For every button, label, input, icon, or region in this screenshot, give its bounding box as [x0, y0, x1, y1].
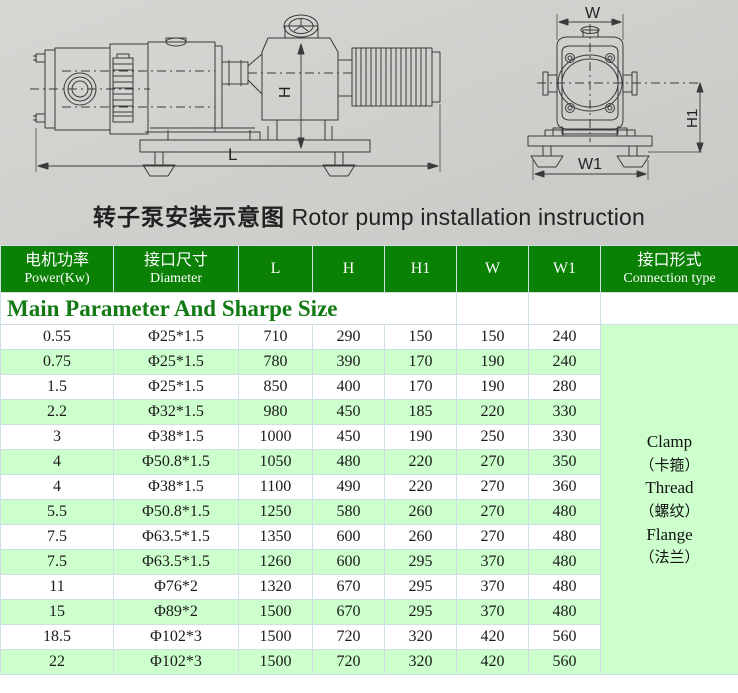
- cell-w: 250: [457, 425, 529, 450]
- dimension-label-W1: W1: [578, 156, 602, 173]
- cell-h: 390: [313, 350, 385, 375]
- cell-power: 3: [1, 425, 114, 450]
- cell-w1: 560: [529, 650, 601, 675]
- cell-h: 290: [313, 325, 385, 350]
- dimension-label-H: H: [277, 86, 294, 98]
- column-header-power: 电机功率 Power(Kw): [1, 246, 114, 293]
- cell-h: 480: [313, 450, 385, 475]
- cell-w: 370: [457, 575, 529, 600]
- cell-power: 7.5: [1, 525, 114, 550]
- connection-line1-cn: （卡箍）: [601, 455, 738, 477]
- page-root: L H: [0, 0, 738, 693]
- cell-h: 490: [313, 475, 385, 500]
- diagram-panel: L H: [0, 0, 738, 245]
- cell-l: 1100: [239, 475, 313, 500]
- column-header-w: W: [457, 246, 529, 293]
- column-header-power-cn: 电机功率: [1, 250, 113, 270]
- cell-w: 370: [457, 600, 529, 625]
- cell-w: 370: [457, 550, 529, 575]
- cell-l: 780: [239, 350, 313, 375]
- cell-w1: 480: [529, 600, 601, 625]
- cell-h: 720: [313, 625, 385, 650]
- cell-w1: 480: [529, 550, 601, 575]
- column-header-l: L: [239, 246, 313, 293]
- column-header-connection-type: 接口形式 Connection type: [601, 246, 738, 293]
- column-header-connection-cn: 接口形式: [601, 250, 738, 270]
- cell-l: 1320: [239, 575, 313, 600]
- cell-h: 580: [313, 500, 385, 525]
- cell-power: 2.2: [1, 400, 114, 425]
- main-parameter-table: Main Parameter And Sharpe Size 电机功率 Powe…: [0, 245, 738, 675]
- connection-line2-cn: （螺纹）: [601, 501, 738, 523]
- column-header-diameter-cn: 接口尺寸: [114, 250, 238, 270]
- connection-line3-en: Flange: [601, 523, 738, 548]
- dimension-label-L: L: [228, 145, 237, 164]
- cell-w1: 280: [529, 375, 601, 400]
- cell-power: 4: [1, 450, 114, 475]
- cell-h1: 260: [385, 525, 457, 550]
- cell-h: 600: [313, 550, 385, 575]
- diagram-caption: 转子泵安装示意图 Rotor pump installation instruc…: [0, 198, 738, 232]
- cell-h: 450: [313, 400, 385, 425]
- cell-w1: 480: [529, 525, 601, 550]
- title-blank-cell-1: [457, 293, 529, 325]
- cell-h1: 170: [385, 350, 457, 375]
- cell-power: 0.55: [1, 325, 114, 350]
- title-blank-cell-2: [529, 293, 601, 325]
- cell-diameter: Φ76*2: [114, 575, 239, 600]
- cell-l: 1500: [239, 625, 313, 650]
- cell-power: 1.5: [1, 375, 114, 400]
- cell-l: 850: [239, 375, 313, 400]
- column-header-diameter-en: Diameter: [114, 270, 238, 288]
- cell-w: 270: [457, 525, 529, 550]
- cell-diameter: Φ102*3: [114, 650, 239, 675]
- cell-h: 600: [313, 525, 385, 550]
- cell-l: 1500: [239, 650, 313, 675]
- cell-l: 1260: [239, 550, 313, 575]
- column-header-h1: H1: [385, 246, 457, 293]
- cell-w1: 240: [529, 325, 601, 350]
- cell-h: 400: [313, 375, 385, 400]
- cell-h1: 320: [385, 650, 457, 675]
- cell-power: 15: [1, 600, 114, 625]
- cell-diameter: Φ25*1.5: [114, 375, 239, 400]
- cell-h1: 220: [385, 450, 457, 475]
- connection-line2-en: Thread: [601, 476, 738, 501]
- cell-h: 720: [313, 650, 385, 675]
- cell-w: 270: [457, 500, 529, 525]
- cell-h1: 220: [385, 475, 457, 500]
- table-title: Main Parameter And Sharpe Size: [1, 293, 457, 325]
- cell-h1: 150: [385, 325, 457, 350]
- cell-connection-type: Clamp（卡箍）Thread（螺纹）Flange（法兰）: [601, 325, 738, 675]
- cell-w1: 480: [529, 500, 601, 525]
- cell-h1: 320: [385, 625, 457, 650]
- cell-diameter: Φ102*3: [114, 625, 239, 650]
- cell-w: 150: [457, 325, 529, 350]
- cell-diameter: Φ50.8*1.5: [114, 450, 239, 475]
- cell-w1: 360: [529, 475, 601, 500]
- cell-diameter: Φ32*1.5: [114, 400, 239, 425]
- cell-w: 270: [457, 450, 529, 475]
- cell-diameter: Φ50.8*1.5: [114, 500, 239, 525]
- dimension-label-W: W: [585, 5, 601, 22]
- cell-diameter: Φ89*2: [114, 600, 239, 625]
- column-header-h: H: [313, 246, 385, 293]
- cell-diameter: Φ63.5*1.5: [114, 525, 239, 550]
- cell-w1: 560: [529, 625, 601, 650]
- cell-power: 18.5: [1, 625, 114, 650]
- cell-l: 1500: [239, 600, 313, 625]
- column-header-power-en: Power(Kw): [1, 270, 113, 288]
- diagram-caption-cn: 转子泵安装示意图: [93, 204, 285, 230]
- cell-w1: 330: [529, 425, 601, 450]
- column-header-connection-en: Connection type: [601, 270, 738, 288]
- column-header-w1: W1: [529, 246, 601, 293]
- cell-w: 420: [457, 625, 529, 650]
- cell-w1: 240: [529, 350, 601, 375]
- cell-h1: 295: [385, 550, 457, 575]
- cell-h: 670: [313, 575, 385, 600]
- cell-l: 1250: [239, 500, 313, 525]
- cell-w: 270: [457, 475, 529, 500]
- cell-l: 710: [239, 325, 313, 350]
- dimension-label-H1: H1: [684, 109, 701, 128]
- cell-h1: 170: [385, 375, 457, 400]
- cell-diameter: Φ38*1.5: [114, 475, 239, 500]
- cell-l: 1350: [239, 525, 313, 550]
- cell-l: 1000: [239, 425, 313, 450]
- cell-power: 0.75: [1, 350, 114, 375]
- cell-h: 670: [313, 600, 385, 625]
- cell-h: 450: [313, 425, 385, 450]
- cell-power: 4: [1, 475, 114, 500]
- cell-diameter: Φ63.5*1.5: [114, 550, 239, 575]
- table-row: 0.55Φ25*1.5710290150150240Clamp（卡箍）Threa…: [1, 325, 738, 350]
- cell-power: 22: [1, 650, 114, 675]
- connection-line3-cn: （法兰）: [601, 547, 738, 569]
- cell-power: 5.5: [1, 500, 114, 525]
- table-title-row: Main Parameter And Sharpe Size: [1, 293, 738, 325]
- cell-power: 7.5: [1, 550, 114, 575]
- cell-l: 980: [239, 400, 313, 425]
- cell-h1: 295: [385, 575, 457, 600]
- connection-line1-en: Clamp: [601, 430, 738, 455]
- cell-w: 220: [457, 400, 529, 425]
- cell-h1: 185: [385, 400, 457, 425]
- title-blank-cell-3: [601, 293, 738, 325]
- cell-diameter: Φ25*1.5: [114, 350, 239, 375]
- diagram-caption-en: Rotor pump installation instruction: [292, 204, 645, 230]
- cell-w1: 480: [529, 575, 601, 600]
- column-header-diameter: 接口尺寸 Diameter: [114, 246, 239, 293]
- cell-w1: 350: [529, 450, 601, 475]
- table-body: 0.55Φ25*1.5710290150150240Clamp（卡箍）Threa…: [1, 325, 738, 675]
- cell-h1: 190: [385, 425, 457, 450]
- cell-w: 190: [457, 375, 529, 400]
- cell-diameter: Φ38*1.5: [114, 425, 239, 450]
- cell-w1: 330: [529, 400, 601, 425]
- cell-w: 190: [457, 350, 529, 375]
- cell-w: 420: [457, 650, 529, 675]
- table-header-row: 电机功率 Power(Kw) 接口尺寸 Diameter L H H1 W: [1, 246, 738, 293]
- cell-h1: 295: [385, 600, 457, 625]
- cell-power: 11: [1, 575, 114, 600]
- cell-h1: 260: [385, 500, 457, 525]
- cell-l: 1050: [239, 450, 313, 475]
- cell-diameter: Φ25*1.5: [114, 325, 239, 350]
